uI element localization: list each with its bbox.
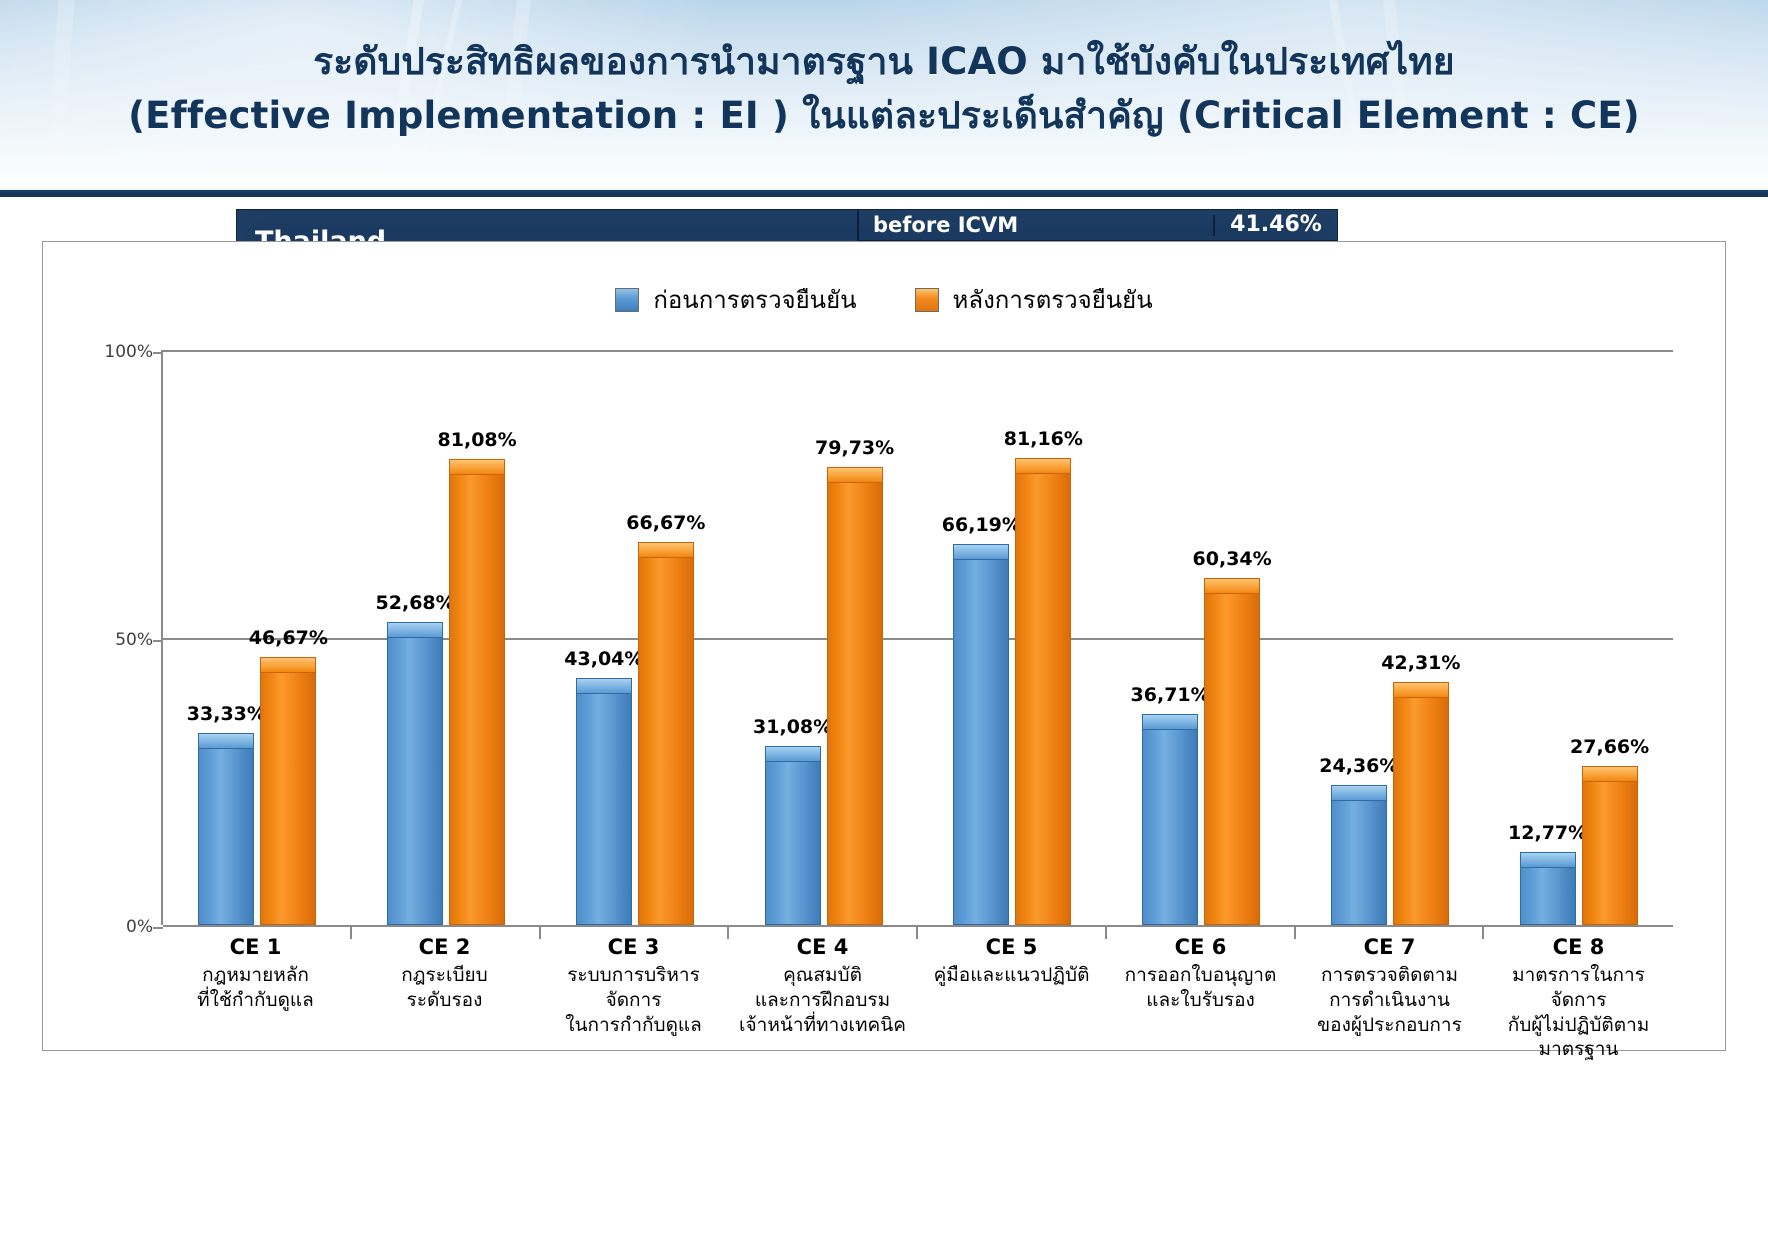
category-label-3: CE 3ระบบการบริหารจัดการในการกำกับดูแล	[539, 934, 728, 1062]
bar-before[interactable]: 24,36%	[1331, 785, 1387, 925]
bar-before[interactable]: 36,71%	[1142, 714, 1198, 925]
bar-after[interactable]: 46,67%	[260, 657, 316, 925]
bar-value-label: 42,31%	[1381, 652, 1460, 674]
plot-area: 0%50%100% 33,33%46,67%52,68%81,08%43,04%…	[121, 350, 1673, 925]
bar-before[interactable]: 43,04%	[576, 678, 632, 925]
bar-value-label: 81,16%	[1004, 428, 1083, 450]
y-axis-tick-label: 50%	[115, 630, 153, 650]
category-description-line: กับผู้ไม่ปฏิบัติตาม	[1488, 1013, 1669, 1038]
bar-wrapper: 12,77%	[1520, 852, 1576, 925]
legend-item-before[interactable]: ก่อนการตรวจยืนยัน	[615, 280, 856, 319]
bar-wrapper: 46,67%	[260, 657, 316, 925]
bar-value-label: 52,68%	[376, 592, 455, 614]
bar-before[interactable]: 12,77%	[1520, 852, 1576, 925]
gridline: 0%	[163, 925, 1673, 927]
category-code: CE 6	[1110, 934, 1291, 961]
category-axis-labels: CE 1กฎหมายหลักที่ใช้กำกับดูแลCE 2กฎระเบี…	[161, 934, 1673, 1062]
bar-before[interactable]: 31,08%	[765, 746, 821, 925]
bar-group: 31,08%79,73%	[729, 350, 918, 925]
bar-after[interactable]: 27,66%	[1582, 766, 1638, 925]
category-label-2: CE 2กฎระเบียบระดับรอง	[350, 934, 539, 1062]
metric-value-before: 41.46%	[1215, 214, 1337, 236]
bar-value-label: 43,04%	[564, 648, 643, 670]
category-label-1: CE 1กฎหมายหลักที่ใช้กำกับดูแล	[161, 934, 350, 1062]
category-code: CE 8	[1488, 934, 1669, 961]
bar-value-label: 66,19%	[942, 514, 1021, 536]
category-description-line: และการฝึกอบรม	[732, 988, 913, 1013]
bar-wrapper: 33,33%	[198, 733, 254, 925]
bar-after[interactable]: 66,67%	[638, 542, 694, 925]
bar-wrapper: 66,19%	[953, 544, 1009, 925]
header-banner: ระดับประสิทธิผลของการนำมาตรฐาน ICAO มาใช…	[0, 0, 1768, 196]
bar-before[interactable]: 66,19%	[953, 544, 1009, 925]
legend-swatch-before-icon	[615, 288, 639, 312]
bar-value-label: 31,08%	[753, 716, 832, 738]
bar-group: 36,71%60,34%	[1107, 350, 1296, 925]
category-label-8: CE 8มาตรการในการจัดการกับผู้ไม่ปฏิบัติตา…	[1484, 934, 1673, 1062]
category-code: CE 1	[165, 934, 346, 961]
banner-divider-accent	[0, 193, 1768, 197]
title-line-2: (Effective Implementation : EI ) ในแต่ละ…	[0, 92, 1768, 140]
category-label-5: CE 5คู่มือและแนวปฏิบัติ	[917, 934, 1106, 1062]
bar-after[interactable]: 81,08%	[449, 459, 505, 925]
table-row: before ICVM 41.46%	[859, 210, 1337, 242]
bar-value-label: 46,67%	[249, 627, 328, 649]
bar-wrapper: 66,67%	[638, 542, 694, 925]
category-description-line: การดำเนินงาน	[1299, 988, 1480, 1013]
bar-after[interactable]: 79,73%	[827, 467, 883, 925]
bar-wrapper: 36,71%	[1142, 714, 1198, 925]
category-label-6: CE 6การออกใบอนุญาตและใบรับรอง	[1106, 934, 1295, 1062]
y-axis-tick-label: 100%	[104, 342, 153, 362]
category-description-line: เจ้าหน้าที่ทางเทคนิค	[732, 1013, 913, 1038]
legend-label-before: ก่อนการตรวจยืนยัน	[653, 280, 856, 319]
bar-wrapper: 43,04%	[576, 678, 632, 925]
bar-value-label: 81,08%	[438, 429, 517, 451]
bar-value-label: 12,77%	[1508, 822, 1587, 844]
bar-before[interactable]: 52,68%	[387, 622, 443, 925]
title-line-1: ระดับประสิทธิผลของการนำมาตรฐาน ICAO มาใช…	[0, 38, 1768, 86]
bar-group: 52,68%81,08%	[352, 350, 541, 925]
bar-value-label: 79,73%	[815, 437, 894, 459]
y-axis-tick-label: 0%	[126, 917, 153, 937]
bar-wrapper: 27,66%	[1582, 766, 1638, 925]
category-code: CE 5	[921, 934, 1102, 961]
category-description-line: ที่ใช้กำกับดูแล	[165, 988, 346, 1013]
bar-group: 12,77%27,66%	[1484, 350, 1673, 925]
category-label-7: CE 7การตรวจติดตามการดำเนินงานของผู้ประกอ…	[1295, 934, 1484, 1062]
category-code: CE 7	[1299, 934, 1480, 961]
legend-label-after: หลังการตรวจยืนยัน	[953, 280, 1153, 319]
bar-wrapper: 81,16%	[1015, 458, 1071, 925]
category-label-4: CE 4คุณสมบัติและการฝึกอบรมเจ้าหน้าที่ทาง…	[728, 934, 917, 1062]
bar-wrapper: 24,36%	[1331, 785, 1387, 925]
bar-after[interactable]: 60,34%	[1204, 578, 1260, 925]
category-description-line: คู่มือและแนวปฏิบัติ	[921, 963, 1102, 988]
page-title: ระดับประสิทธิผลของการนำมาตรฐาน ICAO มาใช…	[0, 38, 1768, 140]
bar-groups: 33,33%46,67%52,68%81,08%43,04%66,67%31,0…	[163, 350, 1673, 925]
y-axis-tick	[153, 640, 163, 642]
category-description-line: ระดับรอง	[354, 988, 535, 1013]
bar-value-label: 24,36%	[1319, 755, 1398, 777]
metric-label-before: before ICVM	[859, 215, 1215, 236]
category-code: CE 3	[543, 934, 724, 961]
category-description-line: กฎหมายหลัก	[165, 963, 346, 988]
bar-before[interactable]: 33,33%	[198, 733, 254, 925]
bar-value-label: 36,71%	[1131, 684, 1210, 706]
bar-wrapper: 52,68%	[387, 622, 443, 925]
bar-after[interactable]: 42,31%	[1393, 682, 1449, 925]
category-description-line: มาตรฐาน	[1488, 1037, 1669, 1062]
bar-value-label: 33,33%	[187, 703, 266, 725]
y-axis-tick	[153, 927, 163, 929]
legend-swatch-after-icon	[915, 288, 939, 312]
category-description-line: ระบบการบริหารจัดการ	[543, 963, 724, 1012]
bar-value-label: 60,34%	[1193, 548, 1272, 570]
chart-container: ก่อนการตรวจยืนยัน หลังการตรวจยืนยัน 0%50…	[42, 241, 1726, 1051]
bar-group: 66,19%81,16%	[918, 350, 1107, 925]
category-code: CE 4	[732, 934, 913, 961]
bar-value-label: 27,66%	[1570, 736, 1649, 758]
plot-inner: 0%50%100% 33,33%46,67%52,68%81,08%43,04%…	[161, 350, 1673, 925]
category-description-line: การตรวจติดตาม	[1299, 963, 1480, 988]
category-description-line: กฎระเบียบ	[354, 963, 535, 988]
bar-wrapper: 81,08%	[449, 459, 505, 925]
category-description-line: ของผู้ประกอบการ	[1299, 1013, 1480, 1038]
chart-legend: ก่อนการตรวจยืนยัน หลังการตรวจยืนยัน	[43, 280, 1725, 319]
bar-wrapper: 31,08%	[765, 746, 821, 925]
bar-wrapper: 42,31%	[1393, 682, 1449, 925]
category-description-line: การออกใบอนุญาต	[1110, 963, 1291, 988]
bar-wrapper: 79,73%	[827, 467, 883, 925]
category-description-line: มาตรการในการจัดการ	[1488, 963, 1669, 1012]
category-description-line: และใบรับรอง	[1110, 988, 1291, 1013]
legend-item-after[interactable]: หลังการตรวจยืนยัน	[915, 280, 1153, 319]
category-code: CE 2	[354, 934, 535, 961]
category-description-line: ในการกำกับดูแล	[543, 1013, 724, 1038]
bar-group: 33,33%46,67%	[163, 350, 352, 925]
bar-after[interactable]: 81,16%	[1015, 458, 1071, 925]
bar-wrapper: 60,34%	[1204, 578, 1260, 925]
bar-group: 43,04%66,67%	[541, 350, 730, 925]
category-description-line: คุณสมบัติ	[732, 963, 913, 988]
y-axis-tick	[153, 352, 163, 354]
bar-value-label: 66,67%	[626, 512, 705, 534]
bar-group: 24,36%42,31%	[1296, 350, 1485, 925]
